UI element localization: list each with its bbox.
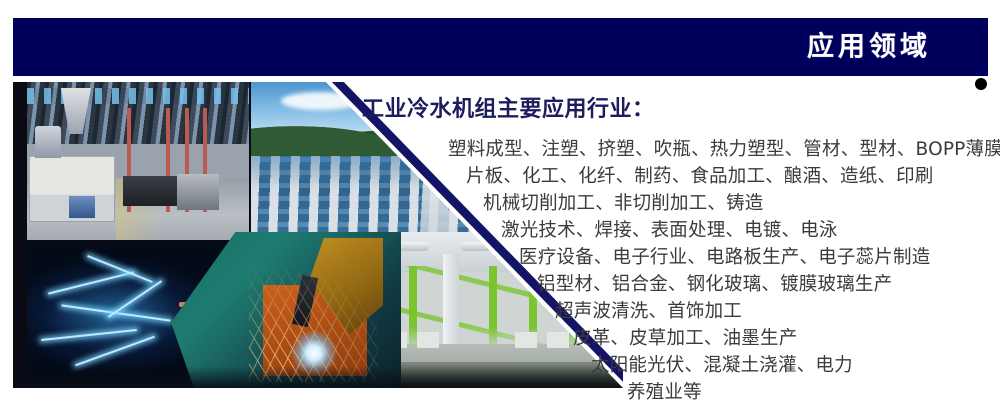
list-item: 医疗设备、电子行业、电路板生产、电子蕊片制造: [0, 244, 1000, 271]
slide-root: 应用领域: [0, 0, 1000, 419]
list-item-text: 铝型材、铝合金、钢化玻璃、镀膜玻璃生产: [537, 274, 892, 295]
list-item: 太阳能光伏、混凝土浇灌、电力: [0, 352, 1000, 379]
list-item-text: 太阳能光伏、混凝土浇灌、电力: [591, 355, 853, 376]
list-item-text: 皮革、皮草加工、油墨生产: [573, 328, 797, 349]
list-item-text: 医疗设备、电子行业、电路板生产、电子蕊片制造: [519, 247, 930, 268]
list-item: 塑料成型、注塑、挤塑、吹瓶、热力塑型、管材、型材、BOPP薄膜、: [0, 136, 1000, 163]
list-item-text: 片板、化工、化纤、制药、食品加工、酿酒、造纸、印刷: [466, 166, 934, 187]
list-item: 片板、化工、化纤、制药、食品加工、酿酒、造纸、印刷: [0, 163, 1000, 190]
list-item: 激光技术、焊接、表面处理、电镀、电泳: [0, 217, 1000, 244]
list-item: 皮革、皮草加工、油墨生产: [0, 325, 1000, 352]
list-item: 铝型材、铝合金、钢化玻璃、镀膜玻璃生产: [0, 271, 1000, 298]
section-title: 工业冷水机组主要应用行业：: [362, 91, 655, 123]
industry-list: 塑料成型、注塑、挤塑、吹瓶、热力塑型、管材、型材、BOPP薄膜、 片板、化工、化…: [0, 136, 1000, 406]
list-item: 养殖业等: [0, 379, 1000, 406]
list-item-text: 养殖业等: [627, 382, 702, 403]
list-item-text: 机械切削加工、非切削加工、铸造: [483, 193, 764, 214]
list-item: 超声波清洗、首饰加工: [0, 298, 1000, 325]
page-title: 应用领域: [807, 34, 931, 61]
list-item-text: 超声波清洗、首饰加工: [555, 301, 742, 322]
list-item-text: 激光技术、焊接、表面处理、电镀、电泳: [501, 220, 838, 241]
list-item: 机械切削加工、非切削加工、铸造: [0, 190, 1000, 217]
header-bar: 应用领域: [13, 18, 988, 76]
bullet-dot-icon: [975, 78, 987, 90]
list-item-text: 塑料成型、注塑、挤塑、吹瓶、热力塑型、管材、型材、BOPP薄膜、: [448, 139, 1000, 160]
